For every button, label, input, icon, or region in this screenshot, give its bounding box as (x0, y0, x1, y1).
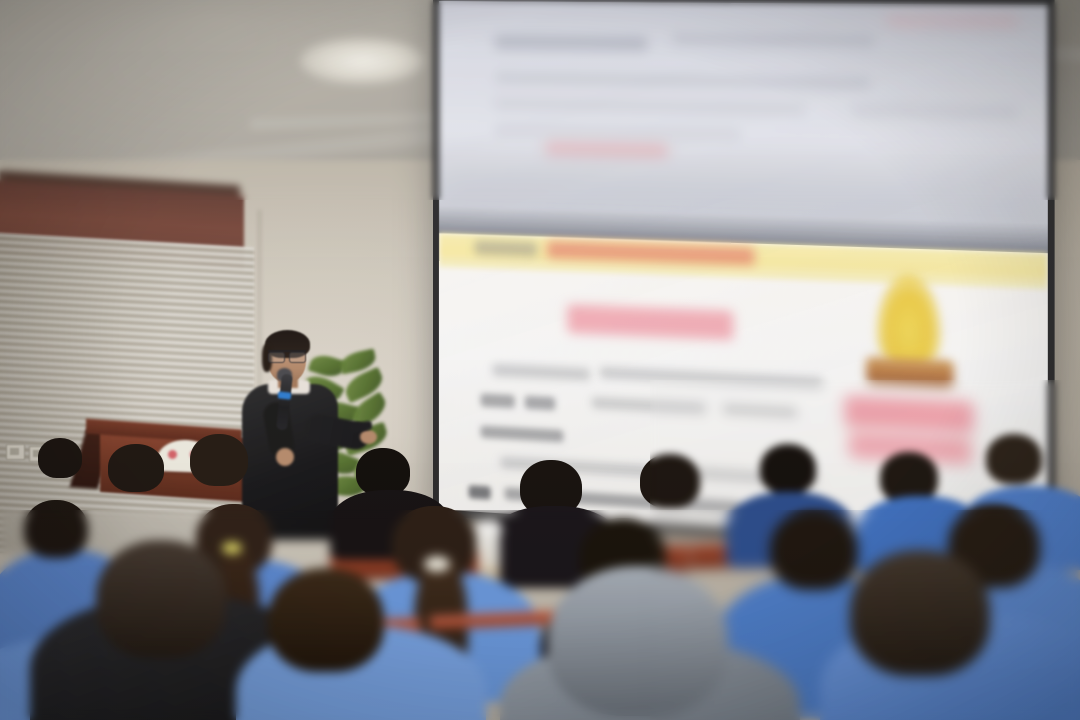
attendee-head (548, 566, 728, 716)
attendee-head (770, 510, 858, 590)
hair-tie-icon (424, 556, 450, 572)
attendee-head (356, 448, 410, 496)
slide-mascot-graphic (844, 272, 976, 417)
eyeglasses-icon (268, 350, 306, 361)
microphone-band (278, 391, 292, 399)
conference-room-photo: A man in a dark jacket and glasses speak… (0, 0, 1080, 720)
attendee-head (190, 434, 248, 486)
attendee-head (24, 500, 88, 558)
hair-clip-icon (222, 542, 242, 554)
attendee-head (268, 568, 384, 672)
slide-overexposed-region (439, 1, 1048, 253)
slide-text-line (493, 364, 590, 381)
trophy-base-icon (866, 356, 954, 387)
audience (0, 400, 1080, 720)
attendee-head (986, 434, 1042, 484)
slide-text-line (600, 367, 823, 389)
slide-header-label (475, 240, 537, 256)
attendee-head (96, 540, 226, 658)
attendee-head (760, 444, 816, 494)
attendee-head (850, 550, 990, 676)
attendee-head (38, 438, 82, 478)
attendee-head (640, 454, 700, 508)
slide-title-highlight (567, 304, 733, 340)
attendee-head (108, 444, 164, 492)
